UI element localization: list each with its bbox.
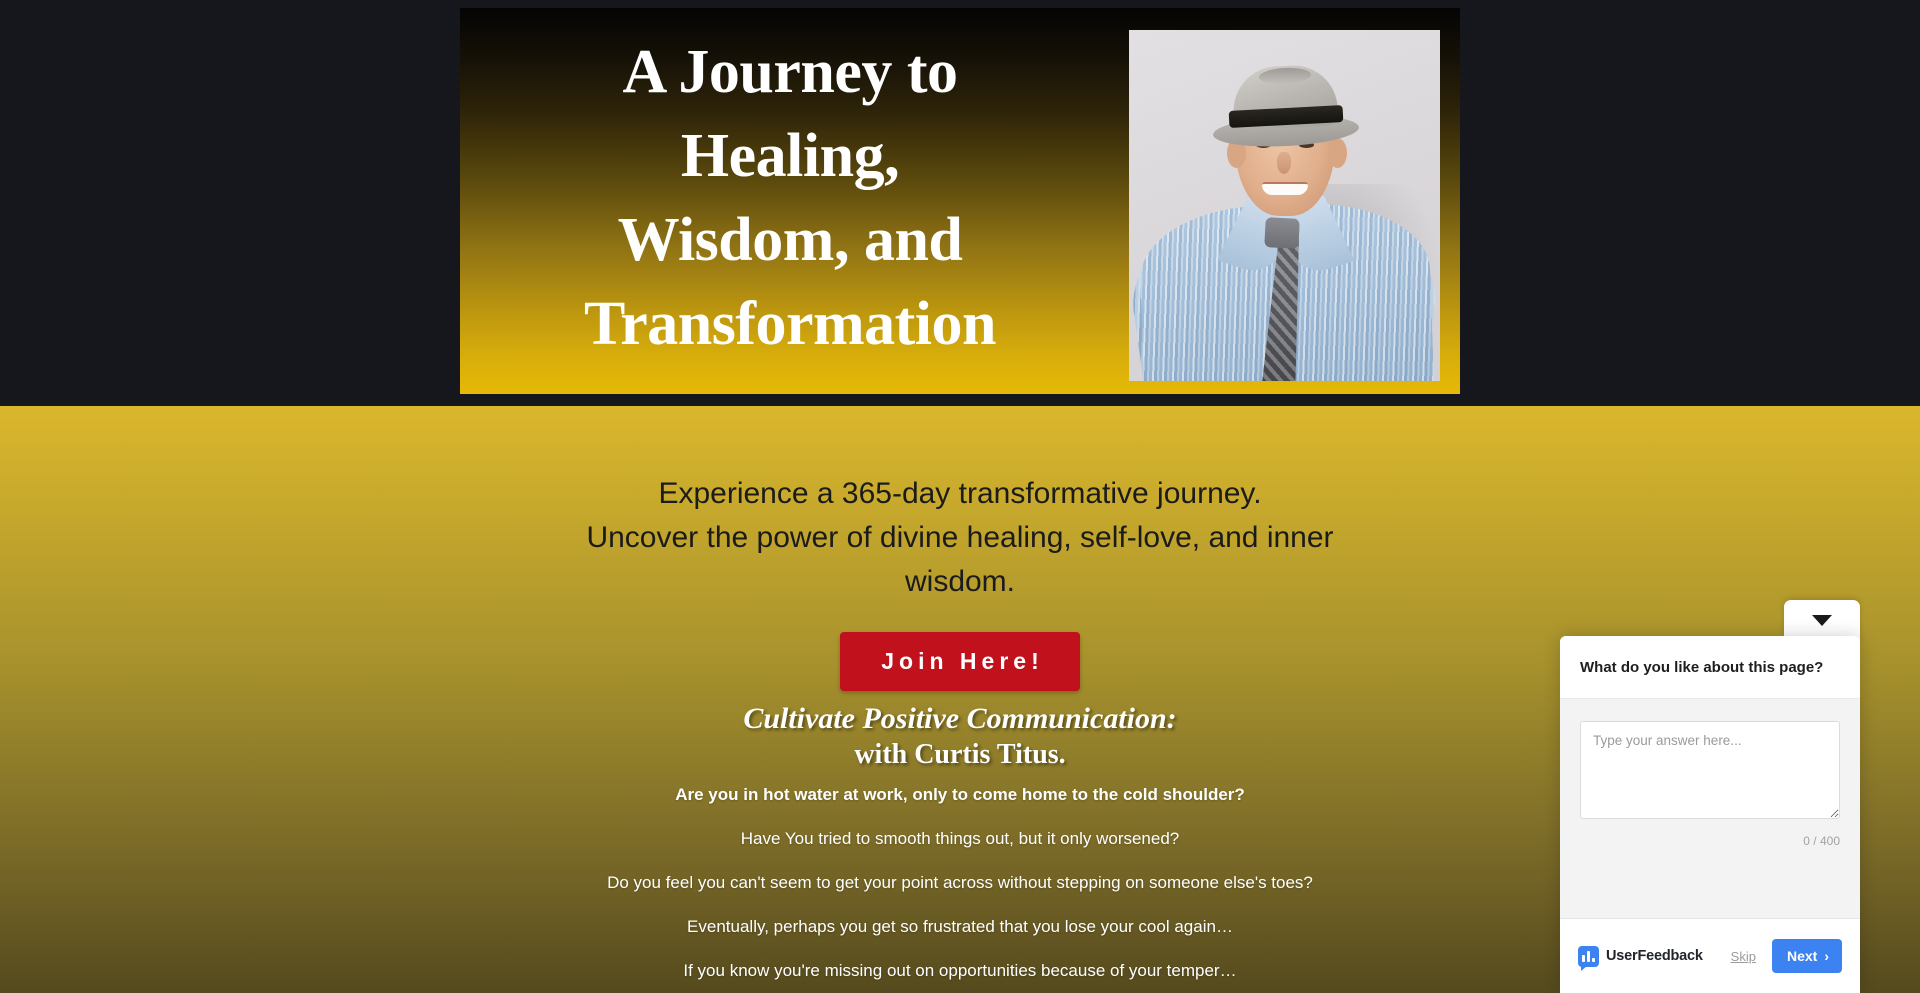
feedback-body: 0 / 400 xyxy=(1560,699,1860,919)
page-root: A Journey to Healing, Wisdom, and Transf… xyxy=(0,0,1920,993)
portrait-smile xyxy=(1262,182,1308,195)
body-copy-line-5: If you know you're missing out on opport… xyxy=(360,960,1560,982)
chevron-right-icon: › xyxy=(1824,949,1829,963)
next-button[interactable]: Next › xyxy=(1772,939,1842,973)
body-copy-line-1: Are you in hot water at work, only to co… xyxy=(360,784,1560,806)
subheadline-line-2: Uncover the power of divine healing, sel… xyxy=(360,516,1560,560)
next-button-label: Next xyxy=(1787,948,1817,964)
subheadline-line-1: Experience a 365-day transformative jour… xyxy=(360,472,1560,516)
body-copy-line-3: Do you feel you can't seem to get your p… xyxy=(360,872,1560,894)
portrait-nose xyxy=(1277,152,1291,174)
portrait-ear-right xyxy=(1328,138,1347,168)
subheadline: Experience a 365-day transformative jour… xyxy=(360,472,1560,604)
hero-title-line-4: Transformation xyxy=(460,282,1120,366)
section-title-line-1: Cultivate Positive Communication: xyxy=(360,702,1560,736)
section-title-line-2: with Curtis Titus. xyxy=(360,738,1560,772)
feedback-question: What do you like about this page? xyxy=(1580,658,1840,678)
hero-title: A Journey to Healing, Wisdom, and Transf… xyxy=(460,30,1120,366)
body-copy-line-4: Eventually, perhaps you get so frustrate… xyxy=(360,916,1560,938)
skip-link[interactable]: Skip xyxy=(1731,949,1756,964)
brand-name-label: UserFeedback xyxy=(1606,948,1703,964)
hero-title-line-3: Wisdom, and xyxy=(460,198,1120,282)
feedback-answer-input[interactable] xyxy=(1580,721,1840,819)
body-copy-line-2: Have You tried to smooth things out, but… xyxy=(360,828,1560,850)
chevron-down-icon xyxy=(1812,615,1832,626)
portrait-necktie-knot xyxy=(1264,217,1300,249)
feedback-footer: UserFeedback Skip Next › xyxy=(1560,919,1860,993)
subheadline-line-3: wisdom. xyxy=(360,560,1560,604)
hero-title-line-2: Healing, xyxy=(460,114,1120,198)
feedback-header: What do you like about this page? xyxy=(1560,636,1860,699)
bar-chart-bubble-icon xyxy=(1578,946,1599,967)
hero-banner: A Journey to Healing, Wisdom, and Transf… xyxy=(460,8,1460,394)
hero-title-line-1: A Journey to xyxy=(460,30,1120,114)
user-feedback-widget: What do you like about this page? 0 / 40… xyxy=(1560,636,1860,993)
feedback-character-counter: 0 / 400 xyxy=(1580,834,1840,848)
section-title: Cultivate Positive Communication: with C… xyxy=(360,702,1560,772)
portrait-photo xyxy=(1129,30,1440,381)
userfeedback-brand: UserFeedback xyxy=(1578,946,1731,967)
body-copy: Are you in hot water at work, only to co… xyxy=(360,784,1560,993)
join-here-button[interactable]: Join Here! xyxy=(840,632,1079,691)
